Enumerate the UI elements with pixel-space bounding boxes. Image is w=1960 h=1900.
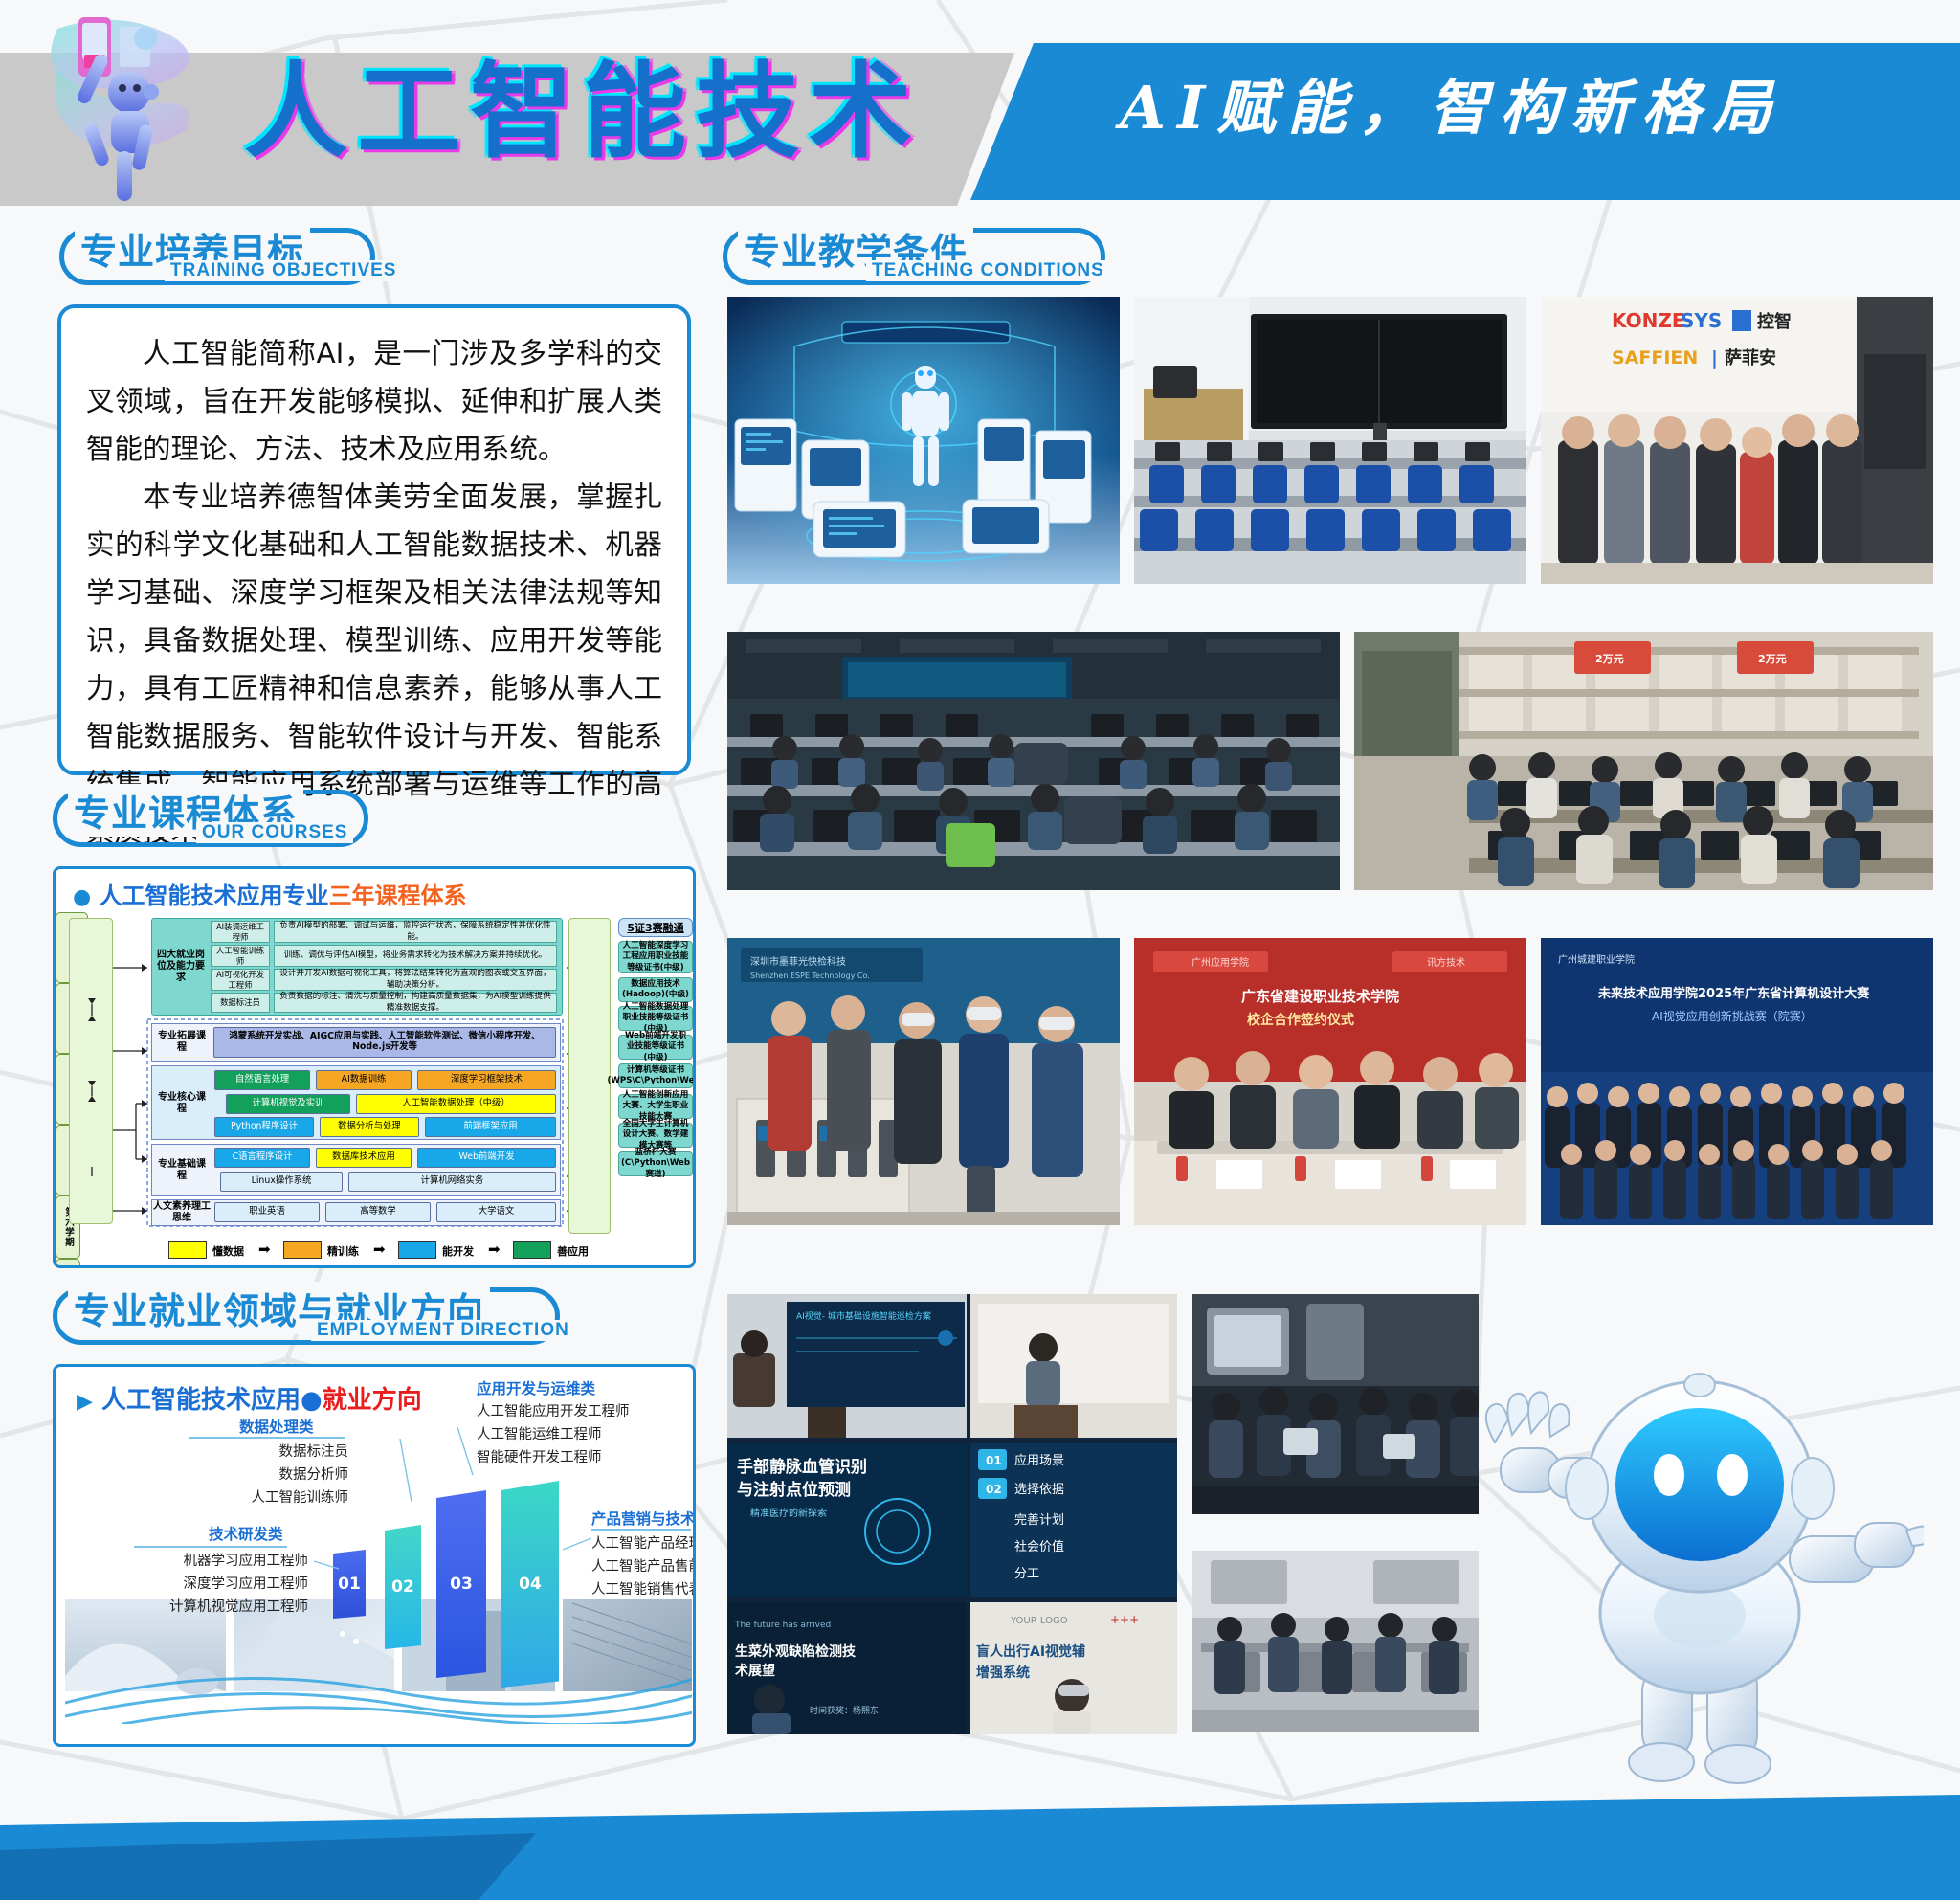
svg-text:时间获奖：杨熙东: 时间获奖：杨熙东 [810, 1705, 879, 1716]
photo-signing-ceremony: 广州应用学院 讯方技术 广东省建设职业技术学院 校企合作签约仪式 与讯方联合开展… [1134, 938, 1526, 1225]
svg-text:YOUR LOGO: YOUR LOGO [1010, 1616, 1068, 1626]
svg-text:萨菲安: 萨菲安 [1725, 347, 1776, 369]
category-items: 人工智能产品经理 人工智能产品售前售后技术支持 人工智能销售代表 [591, 1532, 696, 1601]
category-item: 数据标注员 [189, 1441, 348, 1464]
robot-mascot-icon [29, 0, 239, 206]
category-item: 人工智能训练师 [189, 1486, 348, 1509]
job-title: 人工智能训练师 [211, 945, 270, 967]
header-slogan: AI赋能，智构新格局 [1120, 59, 1783, 145]
svg-text:+++: +++ [1110, 1613, 1139, 1626]
category-items: 人工智能应用开发工程师 人工智能运维工程师 智能硬件开发工程师 [477, 1400, 630, 1469]
course-row-label: 人文素养理工思维 [153, 1201, 211, 1224]
cert-item: 计算机等级证书(WPS\C\Python\Web) [618, 1063, 693, 1088]
svg-text:精准医疗的新探索: 精准医疗的新探索 [750, 1507, 827, 1519]
category-item: 人工智能产品售前售后技术支持 [591, 1555, 696, 1578]
courses-heading: ● 人工智能技术应用专业三年课程体系 [56, 869, 693, 912]
svg-text:广州城建职业学院: 广州城建职业学院 [1558, 953, 1635, 966]
category-item: 计算机视觉应用工程师 [134, 1596, 308, 1619]
category-items: 机器学习应用工程师 深度学习应用工程师 计算机视觉应用工程师 [134, 1550, 308, 1619]
cert-item: 蓝桥杯大赛(C\Python\Web赛道) [618, 1151, 693, 1176]
job-desc: 训练、调优与评估AI模型，将业务需求转化为技术解决方案并持续优化。 [274, 945, 557, 967]
poster-header: 人工智能技术 AI赋能，智构新格局 [0, 0, 1960, 206]
svg-text:未来技术应用学院2025年广东省计算机设计大赛: 未来技术应用学院2025年广东省计算机设计大赛 [1597, 986, 1870, 1001]
svg-text:|: | [1711, 347, 1718, 369]
job-desc: 设计并开发AI数据可视化工具，将算法结果转化为直观的图表或交互界面，辅助决策分析… [274, 969, 557, 991]
svg-text:SYS: SYS [1681, 309, 1722, 332]
svg-text:与注射点位预测: 与注射点位预测 [737, 1480, 851, 1500]
section-title-en: TRAINING OBJECTIVES [165, 260, 402, 281]
svg-text:控智: 控智 [1757, 311, 1792, 332]
photo-competition-collage: AI视觉- 城市基础设施智能巡检方案 手部静脉血管识别 与注射点位预测 精准医疗… [727, 1294, 1177, 1734]
bullet-icon: ● [73, 885, 91, 909]
course-chip: 数据库技术应用 [316, 1148, 412, 1168]
svg-text:广东省建设职业技术学院: 广东省建设职业技术学院 [1241, 988, 1399, 1005]
legend-arrow-icon: ➡ [488, 1242, 501, 1257]
svg-text:分工: 分工 [1014, 1567, 1039, 1581]
category-item: 深度学习应用工程师 [134, 1573, 308, 1596]
svg-text:深圳市墨菲光快检科技: 深圳市墨菲光快检科技 [750, 955, 846, 968]
course-chip: 计算机视觉及实训 [226, 1094, 350, 1114]
category-rule [189, 1437, 345, 1439]
legend-arrow-icon: ➡ [373, 1242, 386, 1257]
category-rule [134, 1546, 287, 1548]
course-chip: AI数据训练 [316, 1070, 412, 1090]
course-row-label: 专业拓展课程 [155, 1027, 209, 1058]
course-row-label: 专业核心课程 [155, 1081, 209, 1127]
photo-computer-lab-students: 2万元2万元 人工智能创新应用工作 [1354, 632, 1933, 890]
job-title: AI可视化开发工程师 [211, 969, 270, 991]
svg-text:广州应用学院: 广州应用学院 [1192, 956, 1249, 969]
category-item: 人工智能运维工程师 [477, 1423, 630, 1446]
course-chip: 职业英语 [214, 1202, 320, 1222]
section-title-en: EMPLOYMENT DIRECTION [311, 1320, 575, 1341]
job-title: 数据标注员 [211, 993, 270, 1013]
category-title: 数据处理类 [239, 1416, 314, 1437]
legend-label: 懂数据 [212, 1243, 244, 1259]
course-chip: 高等数学 [325, 1202, 431, 1222]
job-desc: 负责AI模型的部署、调试与运维，监控运行状态，保障系统稳定性并优化性能。 [274, 921, 557, 943]
course-chip: 计算机网络实务 [348, 1172, 556, 1192]
svg-text:讯方技术: 讯方技术 [1427, 956, 1465, 969]
category-item: 人工智能销售代表 [591, 1578, 696, 1601]
svg-text:KONZE: KONZE [1612, 309, 1685, 332]
svg-text:2万元: 2万元 [1595, 653, 1624, 665]
course-chip: 人工智能数据处理（中级） [356, 1094, 556, 1114]
svg-text:手部静脉血管识别: 手部静脉血管识别 [737, 1457, 867, 1477]
course-chip: 自然语言处理 [214, 1070, 310, 1090]
section-title-objectives: 专业培养目标 TRAINING OBJECTIVES [59, 228, 375, 289]
cert-item: 全国大学生计算机设计大赛、数学建模大赛等 [618, 1123, 693, 1148]
page-title: 人工智能技术 [244, 29, 922, 178]
triangle-icon: ▶ [77, 1390, 93, 1414]
category-item: 智能硬件开发工程师 [477, 1446, 630, 1469]
svg-text:—AI视觉应用创新挑战赛（院赛）: —AI视觉应用创新挑战赛（院赛） [1640, 1009, 1813, 1023]
course-system-diagram: 职业岗位 拓展模块 专业技能 公共基础 [56, 912, 696, 1268]
svg-text:生菜外观缺陷检测技: 生菜外观缺陷检测技 [735, 1643, 857, 1660]
category-items: 数据标注员 数据分析师 人工智能训练师 [189, 1441, 348, 1509]
photo-factory-visit: 前往慧谷动力实地考察与学习 [1192, 1551, 1479, 1732]
section-title-courses: 专业课程体系 OUR COURSES [53, 790, 368, 851]
legend-label: 善应用 [557, 1243, 589, 1259]
svg-text:01: 01 [986, 1454, 1002, 1467]
photo-competition-group: 广州城建职业学院 未来技术应用学院2025年广东省计算机设计大赛 —AI视觉应用… [1541, 938, 1933, 1225]
svg-text:应用场景: 应用场景 [1014, 1453, 1064, 1468]
legend-swatch-green [513, 1241, 551, 1259]
svg-text:完善计划: 完善计划 [1014, 1512, 1064, 1528]
courses-heading-accent: 三年课程体系 [329, 883, 467, 909]
robot-mascot-bottom-icon [1474, 1335, 1924, 1785]
course-chip: Linux操作系统 [220, 1172, 343, 1192]
cert-item: 人工智能创新应用大赛、大学生职业技能大赛 [618, 1094, 693, 1119]
photo-cad-classroom: 计算机辅助设计实训室 [1134, 297, 1526, 584]
semester-column [568, 918, 611, 1234]
employment-bar-chart: 01 02 03 04 技术研发类 机器学习应用工程师 深度学习应用工程师 计算… [56, 1416, 696, 1732]
legend-arrow-icon: ➡ [258, 1242, 271, 1257]
svg-text:2万元: 2万元 [1758, 653, 1787, 665]
legend-swatch-blue [398, 1241, 436, 1259]
photo-group-konzesys: KONZE SYS 控智 SAFFIEN | 萨菲安 与广州控智联合开展智慧物联 [1541, 297, 1933, 584]
course-chip: 深度学习框架技术 [417, 1070, 556, 1090]
legend-swatch-orange [283, 1241, 322, 1259]
cert-header: 5证3赛融通 [618, 918, 693, 937]
cert-item: 人工智能深度学习工程应用职业技能等级证书(中级) [618, 941, 693, 973]
legend-swatch-yellow [168, 1241, 207, 1259]
svg-text:增强系统: 增强系统 [976, 1665, 1030, 1681]
cert-item: Web前端开发职业技能等级证书(中级) [618, 1035, 693, 1060]
header-blue-underline [957, 187, 1960, 200]
photo-expo-visit: 赴琶洲展馆开启学习之旅 [1192, 1294, 1479, 1514]
svg-text:The future has arrived: The future has arrived [734, 1621, 831, 1630]
category-item: 人工智能应用开发工程师 [477, 1400, 630, 1423]
employment-heading-sep: ● [301, 1386, 323, 1415]
course-chip: 数据分析与处理 [320, 1117, 419, 1137]
course-chip: C语言程序设计 [214, 1148, 310, 1168]
photo-ai-lab: 人工智能科普体验室 [727, 297, 1120, 584]
category-title: 应用开发与运维类 [477, 1377, 595, 1398]
cert-item: 人工智能数据处理职业技能等级证书(中级) [618, 1006, 693, 1031]
section-title-en: TEACHING CONDITIONS [866, 260, 1110, 281]
objectives-paragraph-1: 人工智能简称AI，是一门涉及多学科的交叉领域，旨在开发能够模拟、延伸和扩展人类智… [86, 329, 662, 473]
photo-expo-discussion: 深圳市墨菲光快检科技 Shenzhen ESPE Technology Co. … [727, 938, 1120, 1225]
svg-text:盲人出行AI视觉辅: 盲人出行AI视觉辅 [976, 1643, 1085, 1660]
courses-card: ● 人工智能技术应用专业三年课程体系 职业岗位 拓展模块 专业技能 公共基础 [53, 866, 696, 1268]
category-title: 产品营销与技术支持岗 [591, 1508, 696, 1529]
job-block-label: 四大就业岗位及能力要求 [155, 933, 207, 1000]
course-chip: 前端框架应用 [425, 1117, 556, 1137]
svg-text:Shenzhen ESPE Technology Co.: Shenzhen ESPE Technology Co. [750, 972, 870, 980]
legend-label: 能开发 [442, 1243, 474, 1259]
course-chip: 大学语文 [436, 1202, 556, 1222]
section-title-employment: 专业就业领域与就业方向 EMPLOYMENT DIRECTION [53, 1287, 560, 1349]
employment-card: ▶ 人工智能技术应用●就业方向 [53, 1364, 696, 1747]
job-title: AI装调运维工程师 [211, 921, 270, 943]
section-title-teaching: 专业教学条件 TEACHING CONDITIONS [723, 228, 1105, 289]
section-title-en: OUR COURSES [196, 822, 353, 843]
category-title: 技术研发类 [209, 1523, 283, 1544]
category-item: 机器学习应用工程师 [134, 1550, 308, 1573]
svg-text:术展望: 术展望 [735, 1663, 775, 1679]
employment-heading-prefix: 人工智能技术应用 [101, 1386, 301, 1415]
category-item: 数据分析师 [189, 1464, 348, 1486]
course-row-label: 专业基础课程 [155, 1151, 209, 1190]
svg-text:校企合作签约仪式: 校企合作签约仪式 [1247, 1012, 1354, 1028]
employment-heading-accent: 就业方向 [323, 1386, 422, 1415]
category-item: 人工智能产品经理 [591, 1532, 696, 1555]
photo-computer-lab-wide: 人工智能创新应用工作室 [727, 632, 1340, 890]
courses-heading-prefix: 人工智能技术应用专业 [100, 883, 329, 909]
svg-text:SAFFIEN: SAFFIEN [1612, 347, 1698, 369]
course-chip: Python程序设计 [214, 1117, 314, 1137]
objectives-card: 人工智能简称AI，是一门涉及多学科的交叉领域，旨在开发能够模拟、延伸和扩展人类智… [57, 304, 691, 775]
legend-label: 精训练 [327, 1243, 359, 1259]
svg-text:社会价值: 社会价值 [1014, 1539, 1064, 1554]
svg-text:选择依据: 选择依据 [1014, 1483, 1064, 1497]
course-chip: Web前端开发 [417, 1148, 556, 1168]
course-chip: 鸿蒙系统开发实战、AIGC应用与实践、人工智能软件测试、微信小程序开发、Node… [213, 1027, 556, 1058]
category-rule [591, 1529, 691, 1531]
svg-text:02: 02 [986, 1483, 1002, 1496]
svg-text:AI视觉- 城市基础设施智能巡检方案: AI视觉- 城市基础设施智能巡检方案 [796, 1310, 931, 1322]
cert-item: 数据应用技术(Hadoop)(中级) [618, 977, 693, 1002]
job-desc: 负责数据的标注、清洗与质量控制，构建高质量数据集，为AI模型训练提供精准数据支撑… [274, 993, 557, 1013]
